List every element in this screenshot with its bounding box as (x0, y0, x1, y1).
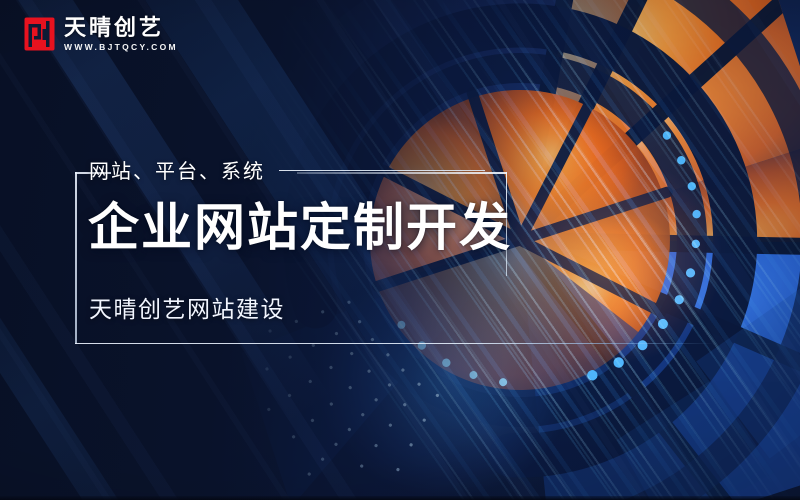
headline-text: 企业网站定制开发 (88, 202, 512, 254)
company-name: 天晴创艺 (64, 16, 178, 39)
logo-text-block: 天晴创艺 WWW.BJTQCY.COM (64, 16, 178, 52)
subheadline-text: 天晴创艺网站建设 (89, 290, 285, 324)
corner-bracket-frame: 网站、平台、系统 企业网站定制开发 天晴创艺网站建设 (75, 172, 507, 344)
brand-logo[interactable]: 天晴创艺 WWW.BJTQCY.COM (24, 16, 178, 52)
company-website-url: WWW.BJTQCY.COM (64, 42, 178, 52)
frame-left-edge (75, 172, 77, 344)
frame-bottom-edge (75, 343, 715, 345)
eyebrow-row: 网站、平台、系统 (89, 155, 489, 184)
tianqing-square-logo-icon (24, 17, 55, 51)
eyebrow-rule (279, 170, 485, 172)
eyebrow-text: 网站、平台、系统 (89, 155, 265, 184)
promo-banner: 天晴创艺 WWW.BJTQCY.COM 网站、平台、系统 企业网站定制开发 天晴… (0, 0, 800, 500)
